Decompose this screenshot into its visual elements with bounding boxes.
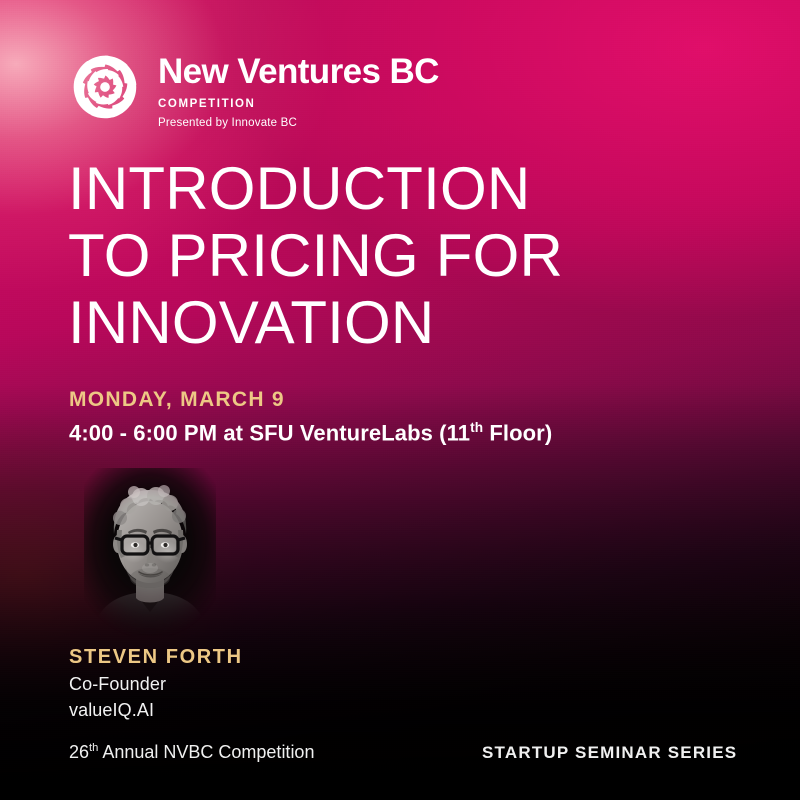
- event-time-suffix: Floor): [483, 420, 552, 445]
- headline-line-2: TO PRICING FOR: [68, 223, 563, 290]
- event-time-ordinal: th: [470, 420, 483, 435]
- event-poster: New Ventures BC COMPETITION Presented by…: [0, 0, 800, 800]
- headline-line-3: INNOVATION: [68, 290, 563, 357]
- headline-line-1: INTRODUCTION: [68, 156, 563, 223]
- speaker-name: STEVEN FORTH: [69, 646, 243, 669]
- event-time-location: 4:00 - 6:00 PM at SFU VentureLabs (11th …: [69, 420, 552, 446]
- poster-headline: INTRODUCTION TO PRICING FOR INNOVATION: [68, 156, 563, 357]
- footer-edition-ordinal: th: [89, 742, 98, 754]
- footer-edition-rest: Annual NVBC Competition: [98, 742, 314, 762]
- speaker-role: Co-Founder: [69, 674, 243, 695]
- footer-series-label: STARTUP SEMINAR SERIES: [482, 743, 737, 763]
- event-date: MONDAY, MARCH 9: [69, 388, 285, 412]
- portrait-steven-forth-image: [84, 468, 216, 636]
- speaker-block: STEVEN FORTH Co-Founder valueIQ.AI: [69, 646, 243, 721]
- speaker-organization: valueIQ.AI: [69, 700, 243, 721]
- brand-lockup: New Ventures BC COMPETITION Presented by…: [66, 48, 439, 129]
- event-time-prefix: 4:00 - 6:00 PM at SFU VentureLabs (11: [69, 420, 470, 445]
- speaker-portrait: [84, 468, 216, 636]
- brand-presented-by: Presented by Innovate BC: [158, 117, 439, 129]
- footer-edition-number: 26: [69, 742, 89, 762]
- footer-competition-edition: 26th Annual NVBC Competition: [69, 742, 314, 763]
- brand-wordmark: New Ventures BC: [158, 54, 439, 89]
- pinwheel-spiral-logo-icon: [66, 48, 144, 126]
- brand-competition-label: COMPETITION: [158, 98, 439, 110]
